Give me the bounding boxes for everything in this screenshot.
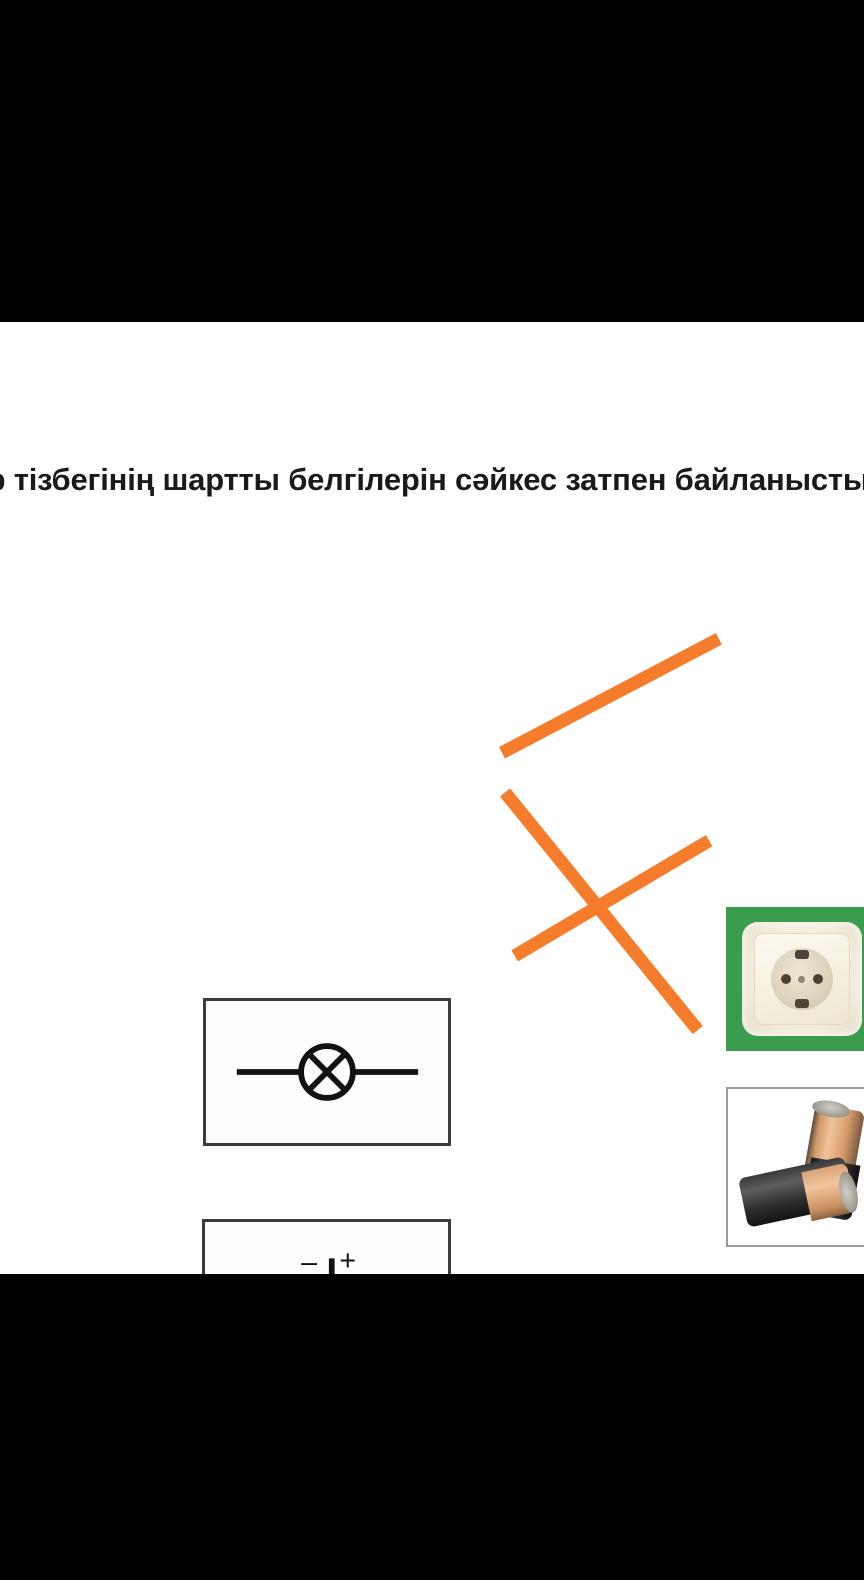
socket-recess bbox=[771, 948, 833, 1010]
socket-faceplate bbox=[742, 922, 862, 1036]
lamp-symbol-card[interactable] bbox=[203, 998, 451, 1146]
socket-pin-right bbox=[813, 974, 823, 984]
cell-circuit-icon: – + bbox=[205, 1222, 448, 1274]
page-title: электр тізбегінің шартты белгілерін сәйк… bbox=[0, 462, 864, 498]
plus-terminal-label: + bbox=[339, 1245, 356, 1274]
socket-picture[interactable] bbox=[726, 907, 864, 1051]
battery-picture[interactable] bbox=[726, 1087, 864, 1247]
socket-inner-plate bbox=[754, 933, 850, 1025]
battery-symbol-card[interactable]: – + bbox=[202, 1219, 451, 1274]
connector-line-battery-to-cell[interactable] bbox=[511, 835, 712, 961]
socket-earth-clip-top bbox=[795, 950, 809, 959]
letterbox-bar-top bbox=[0, 0, 864, 322]
slide-content: электр тізбегінің шартты белгілерін сәйк… bbox=[0, 322, 864, 1274]
socket-pin-center bbox=[798, 976, 805, 983]
socket-pin-left bbox=[781, 974, 791, 984]
screenshot-root: электр тізбегінің шартты белгілерін сәйк… bbox=[0, 0, 864, 1580]
socket-earth-clip-bottom bbox=[795, 999, 809, 1008]
lamp-circuit-icon bbox=[206, 1001, 448, 1143]
letterbox-bar-bottom bbox=[0, 1274, 864, 1580]
minus-terminal-label: – bbox=[301, 1247, 317, 1274]
connector-line-lamp-to-socket[interactable] bbox=[499, 633, 722, 759]
